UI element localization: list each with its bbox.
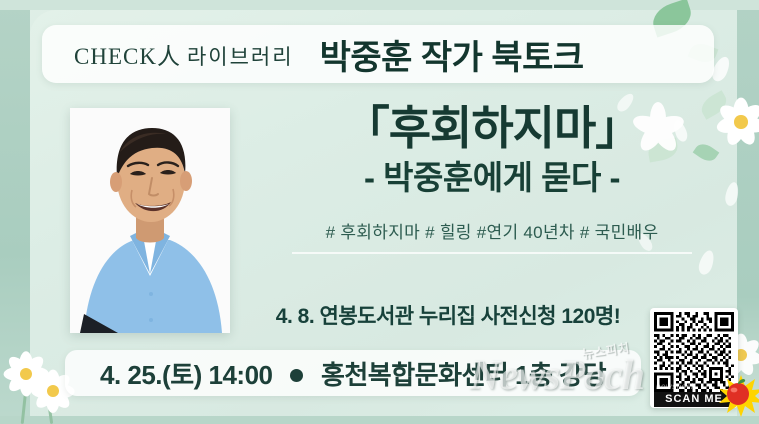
registration-notice: 4. 8. 연봉도서관 누리집 사전신청 120명! [248, 300, 648, 330]
schedule-venue: 홍천복합문화센터 1층 강당 [321, 360, 606, 390]
title-block: 「후회하지마」 - 박중훈에게 묻다 - # 후회하지마 # 힐링 #연기 40… [262, 104, 722, 254]
frame-strip-bottom [0, 416, 759, 424]
schedule-bar: 4. 25.(토) 14:00 홍천복합문화센터 1층 강당 [65, 350, 641, 396]
brand-logo: CHECK人라이브러리 [74, 37, 294, 71]
book-subtitle: - 박중훈에게 묻다 - [262, 158, 722, 198]
hashtag-list: # 후회하지마 # 힐링 #연기 40년차 # 국민배우 [262, 218, 722, 243]
divider [292, 252, 692, 254]
frame-strip-top [0, 0, 759, 10]
brand-name: 라이브러리 [187, 45, 294, 69]
bullet-separator-icon [290, 369, 303, 382]
header-banner: CHECK人라이브러리 박중훈 작가 북토크 [42, 25, 714, 83]
schedule-text: 4. 25.(토) 14:00 홍천복합문화센터 1층 강당 [100, 355, 606, 392]
schedule-datetime: 4. 25.(토) 14:00 [100, 360, 273, 390]
book-title: 「후회하지마」 [262, 104, 722, 152]
starburst-badge-icon [719, 374, 759, 418]
event-poster: CHECK人라이브러리 박중훈 작가 북토크 [0, 0, 759, 424]
speaker-portrait [70, 108, 230, 333]
header-title: 박중훈 작가 북토크 [320, 30, 584, 79]
brand-mark: CHECK人 [74, 44, 181, 69]
qr-watermark-text: newspoch [656, 382, 696, 391]
